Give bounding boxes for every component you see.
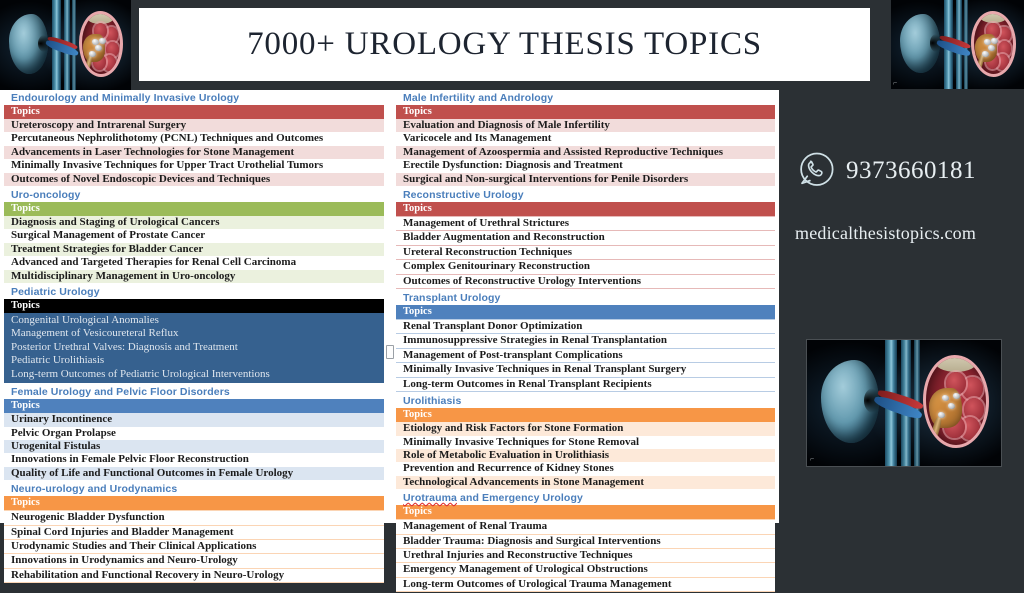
topic-row[interactable]: Immunosuppressive Strategies in Renal Tr…	[396, 334, 775, 348]
topic-row[interactable]: Posterior Urethral Valves: Diagnosis and…	[4, 341, 384, 354]
topic-row[interactable]: Advanced and Targeted Therapies for Rena…	[4, 256, 384, 269]
section-title: Neuro-urology and Urodynamics	[4, 481, 384, 496]
topics-header: Topics	[396, 105, 775, 119]
topic-row[interactable]: Urodynamic Studies and Their Clinical Ap…	[4, 540, 384, 554]
topic-row[interactable]: Long-term Outcomes of Pediatric Urologic…	[4, 368, 384, 381]
kidney-stone	[988, 45, 995, 51]
topic-rows: Etiology and Risk Factors for Stone Form…	[396, 422, 775, 489]
topic-row[interactable]: Percutaneous Nephrolithotomy (PCNL) Tech…	[4, 132, 384, 145]
section-title: Pediatric Urology	[4, 284, 384, 299]
topic-row[interactable]: Management of Post-transplant Complicati…	[396, 349, 775, 363]
section-title: Uro-oncology	[4, 187, 384, 202]
content-panel: Endourology and Minimally Invasive Urolo…	[0, 90, 779, 523]
kidney-illustration-top-left	[0, 0, 131, 90]
kidney-stone	[982, 51, 989, 57]
topic-row[interactable]: Ureteroscopy and Intrarenal Surgery	[4, 119, 384, 132]
topic-rows: Congenital Urological AnomaliesManagemen…	[4, 313, 384, 383]
topic-row[interactable]: Etiology and Risk Factors for Stone Form…	[396, 422, 775, 435]
title-banner[interactable]: 7000+ UROLOGY THESIS TOPICS	[139, 8, 870, 81]
section-title: Endourology and Minimally Invasive Urolo…	[4, 90, 384, 105]
topic-row[interactable]: Diagnosis and Staging of Urological Canc…	[4, 216, 384, 229]
topic-row[interactable]: Long-term Outcomes of Urological Trauma …	[396, 578, 775, 592]
kidney-stone	[953, 393, 960, 399]
topic-row[interactable]: Surgical and Non-surgical Interventions …	[396, 173, 775, 186]
topic-row[interactable]: Management of Urethral Strictures	[396, 216, 775, 231]
kidney-stone	[99, 38, 106, 44]
topic-row[interactable]: Evaluation and Diagnosis of Male Inferti…	[396, 119, 775, 132]
topic-row[interactable]: Bladder Trauma: Diagnosis and Surgical I…	[396, 535, 775, 549]
topic-row[interactable]: Advancements in Laser Technologies for S…	[4, 146, 384, 159]
topic-section: Neuro-urology and UrodynamicsTopicsNeuro…	[4, 481, 384, 583]
topic-row[interactable]: Management of Azoospermia and Assisted R…	[396, 146, 775, 159]
topic-rows: Neurogenic Bladder DysfunctionSpinal Cor…	[4, 510, 384, 583]
topic-row[interactable]: Technological Advancements in Stone Mana…	[396, 476, 775, 489]
topic-rows: Urinary IncontinencePelvic Organ Prolaps…	[4, 413, 384, 480]
topic-row[interactable]: Outcomes of Reconstructive Urology Inter…	[396, 275, 775, 289]
topics-header: Topics	[4, 202, 384, 216]
kidney-right-cross-section	[971, 11, 1016, 77]
kidney-stone	[991, 38, 998, 44]
topic-row[interactable]: Innovations in Female Pelvic Floor Recon…	[4, 453, 384, 466]
topic-row[interactable]: Multidisciplinary Management in Uro-onco…	[4, 270, 384, 283]
contact-block: 9373660181 medicalthesistopics.com	[795, 150, 1024, 244]
section-title: Urolithiasis	[396, 393, 775, 408]
topic-row[interactable]: Minimally Invasive Techniques for Stone …	[396, 436, 775, 449]
website-url: medicalthesistopics.com	[795, 223, 1024, 244]
section-title: Female Urology and Pelvic Floor Disorder…	[4, 384, 384, 399]
misspelled-word: Urotrauma	[403, 492, 457, 504]
topic-row[interactable]: Bladder Augmentation and Reconstruction	[396, 231, 775, 245]
topics-header: Topics	[4, 496, 384, 510]
topic-rows: Ureteroscopy and Intrarenal SurgeryPercu…	[4, 119, 384, 186]
section-title: Transplant Urology	[396, 290, 775, 305]
picture-corner-mark: ⌐	[893, 81, 898, 87]
topics-header: Topics	[396, 202, 775, 216]
topic-row[interactable]: Pelvic Organ Prolapse	[4, 427, 384, 440]
topic-section: Urotrauma and Emergency UrologyTopicsMan…	[396, 490, 775, 592]
topic-row[interactable]: Congenital Urological Anomalies	[4, 314, 384, 327]
topic-row[interactable]: Long-term Outcomes in Renal Transplant R…	[396, 378, 775, 392]
topics-header: Topics	[4, 105, 384, 119]
topic-section: Transplant UrologyTopicsRenal Transplant…	[396, 290, 775, 392]
topics-header: Topics	[4, 299, 384, 313]
topic-row[interactable]: Erectile Dysfunction: Diagnosis and Trea…	[396, 159, 775, 172]
topic-row[interactable]: Management of Renal Trauma	[396, 519, 775, 534]
topic-row[interactable]: Minimally Invasive Techniques in Renal T…	[396, 363, 775, 377]
kidney-illustration-side[interactable]: ⌐	[806, 339, 1002, 467]
topic-row[interactable]: Pediatric Urolithiasis	[4, 354, 384, 367]
kidney-left-shape	[9, 14, 48, 73]
topic-row[interactable]: Outcomes of Novel Endoscopic Devices and…	[4, 173, 384, 186]
topic-row[interactable]: Management of Vesicoureteral Reflux	[4, 327, 384, 340]
topic-row[interactable]: Urogenital Fistulas	[4, 440, 384, 453]
topic-row[interactable]: Complex Genitourinary Reconstruction	[396, 260, 775, 274]
topic-row[interactable]: Ureteral Reconstruction Techniques	[396, 246, 775, 260]
topic-section: Endourology and Minimally Invasive Urolo…	[4, 90, 384, 186]
phone-number: 9373660181	[846, 157, 976, 185]
topic-rows: Renal Transplant Donor OptimizationImmun…	[396, 319, 775, 392]
kidney-stone	[984, 39, 991, 45]
topics-header: Topics	[396, 305, 775, 319]
topic-row[interactable]: Urinary Incontinence	[4, 413, 384, 426]
kidney-illustration-top-right: ⌐	[891, 0, 1024, 89]
topic-row[interactable]: Spinal Cord Injuries and Bladder Managem…	[4, 526, 384, 540]
picture-corner-mark: ⌐	[810, 457, 815, 463]
topic-row[interactable]: Prevention and Recurrence of Kidney Ston…	[396, 462, 775, 475]
adrenal-gland-shape	[934, 355, 978, 372]
topic-section: Male Infertility and AndrologyTopicsEval…	[396, 90, 775, 186]
topic-row[interactable]: Surgical Management of Prostate Cancer	[4, 229, 384, 242]
kidney-right-cross-section	[79, 11, 124, 78]
section-title: Male Infertility and Andrology	[396, 90, 775, 105]
topic-row[interactable]: Varicocele and Its Management	[396, 132, 775, 145]
topic-section: Female Urology and Pelvic Floor Disorder…	[4, 384, 384, 480]
page-title: 7000+ UROLOGY THESIS TOPICS	[247, 26, 762, 63]
topics-header: Topics	[396, 408, 775, 422]
topics-header: Topics	[4, 399, 384, 413]
phone-row[interactable]: 9373660181	[795, 150, 1024, 192]
section-title: Reconstructive Urology	[396, 187, 775, 202]
right-column: Male Infertility and AndrologyTopicsEval…	[396, 90, 775, 593]
topic-rows: Management of Urethral StricturesBladder…	[396, 216, 775, 289]
topic-row[interactable]: Role of Metabolic Evaluation in Urolithi…	[396, 449, 775, 462]
section-title: Urotrauma and Emergency Urology	[396, 490, 775, 505]
topic-row[interactable]: Neurogenic Bladder Dysfunction	[4, 510, 384, 525]
topics-header: Topics	[396, 505, 775, 519]
topic-row[interactable]: Urethral Injuries and Reconstructive Tec…	[396, 549, 775, 563]
topic-section: Reconstructive UrologyTopicsManagement o…	[396, 187, 775, 289]
whatsapp-icon	[795, 150, 837, 192]
topic-rows: Diagnosis and Staging of Urological Canc…	[4, 216, 384, 283]
textbox-resize-handle[interactable]	[386, 345, 394, 359]
topic-row[interactable]: Treatment Strategies for Bladder Cancer	[4, 243, 384, 256]
topic-rows: Management of Renal TraumaBladder Trauma…	[396, 519, 775, 592]
topic-row[interactable]: Quality of Life and Functional Outcomes …	[4, 467, 384, 480]
topic-section: Uro-oncologyTopicsDiagnosis and Staging …	[4, 187, 384, 283]
topic-section: UrolithiasisTopicsEtiology and Risk Fact…	[396, 393, 775, 489]
topic-section: Pediatric UrologyTopicsCongenital Urolog…	[4, 284, 384, 383]
kidney-stone	[942, 395, 949, 401]
topic-row[interactable]: Minimally Invasive Techniques for Upper …	[4, 159, 384, 172]
topic-row[interactable]: Innovations in Urodynamics and Neuro-Uro…	[4, 554, 384, 568]
topic-row[interactable]: Renal Transplant Donor Optimization	[396, 319, 775, 334]
left-column: Endourology and Minimally Invasive Urolo…	[4, 90, 384, 584]
kidney-left-shape	[900, 14, 940, 73]
topic-rows: Evaluation and Diagnosis of Male Inferti…	[396, 119, 775, 186]
